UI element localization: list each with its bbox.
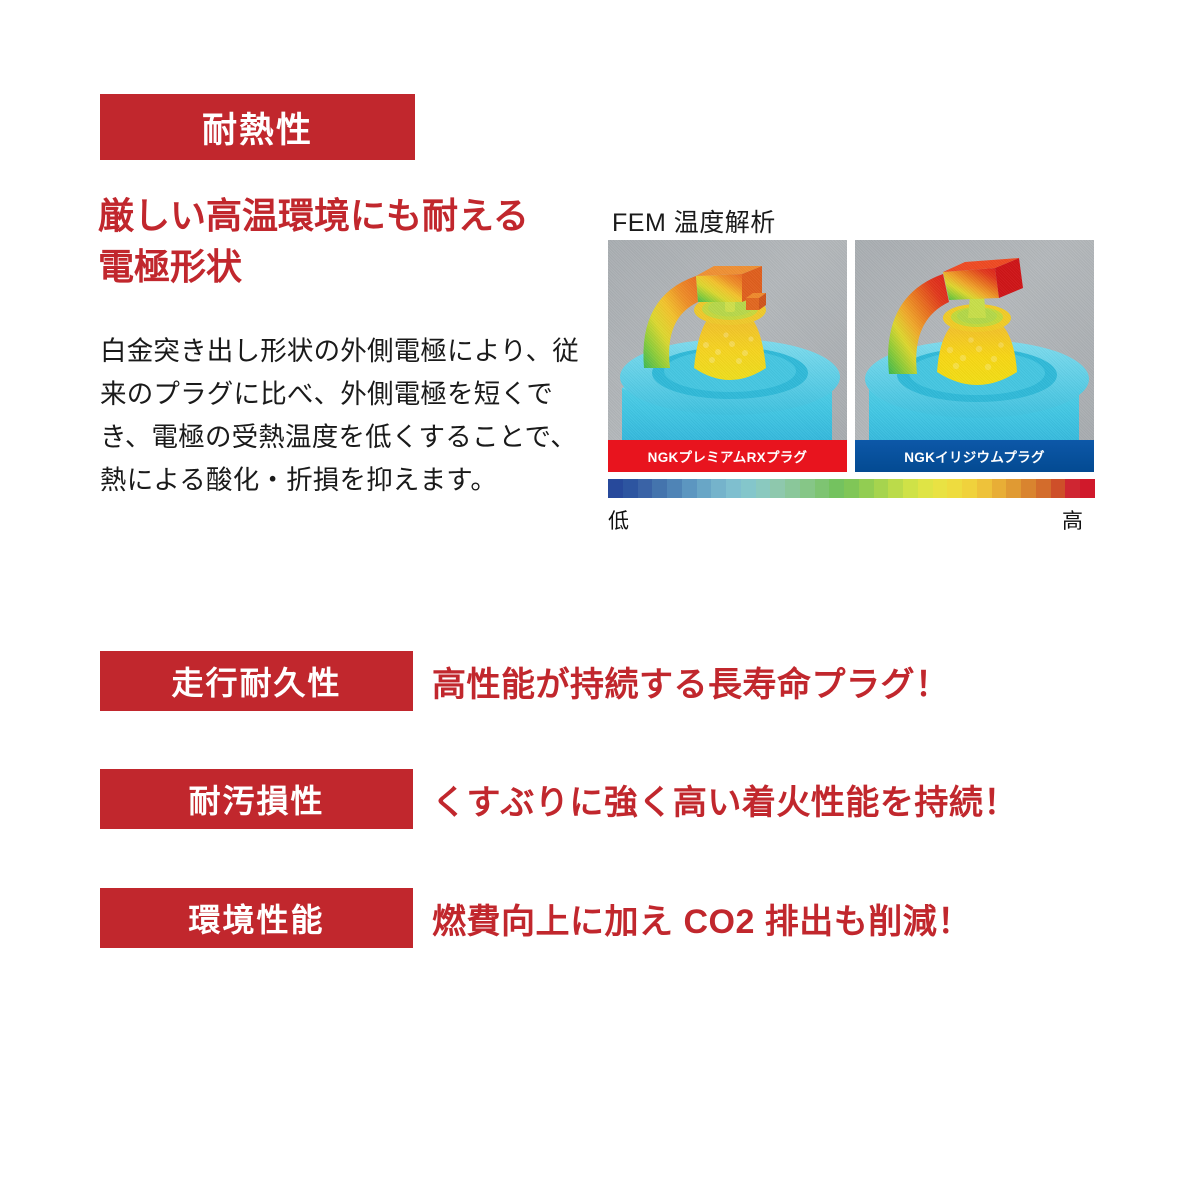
badge-heat-resistance-label: 耐熱性	[202, 102, 313, 153]
feature-row-durability: 走行耐久性 高性能が持続する長寿命プラグ！	[100, 651, 1060, 711]
heat-headline-line-2: 電極形状	[98, 241, 598, 292]
temperature-scale-low-label: 低	[608, 505, 629, 535]
scale-step-19	[888, 479, 903, 498]
scale-step-27	[1006, 479, 1021, 498]
scale-step-10	[756, 479, 771, 498]
scale-step-29	[1036, 479, 1051, 498]
heat-body-text: 白金突き出し形状の外側電極により、従来のプラグに比べ、外側電極を短くでき、電極の…	[100, 330, 580, 502]
scale-step-24	[962, 479, 977, 498]
scale-step-28	[1021, 479, 1036, 498]
scale-step-6	[697, 479, 712, 498]
scale-step-23	[947, 479, 962, 498]
scale-step-22	[933, 479, 948, 498]
scale-step-0	[608, 479, 623, 498]
fem-caption-iridium-label: NGKイリジウムプラグ	[904, 446, 1045, 466]
fem-thermal-render-iridium	[855, 240, 1094, 472]
scale-step-14	[815, 479, 830, 498]
badge-environment-label: 環境性能	[188, 895, 324, 941]
badge-durability-label: 走行耐久性	[171, 658, 341, 704]
fem-caption-premium-rx-label: NGKプレミアムRXプラグ	[648, 446, 808, 466]
badge-environment: 環境性能	[100, 888, 413, 948]
scale-step-21	[918, 479, 933, 498]
feature-text-durability: 高性能が持続する長寿命プラグ！	[432, 651, 950, 711]
fem-panel-premium-rx: NGKプレミアムRXプラグ	[608, 240, 847, 472]
scale-step-8	[726, 479, 741, 498]
temperature-scale-high-label: 高	[1062, 505, 1083, 535]
scale-step-13	[800, 479, 815, 498]
scale-step-26	[992, 479, 1007, 498]
fem-panel-group: NGKプレミアムRXプラグ	[608, 240, 1095, 472]
heat-headline: 厳しい高温環境にも耐える 電極形状	[98, 190, 598, 292]
scale-step-11	[770, 479, 785, 498]
scale-step-15	[829, 479, 844, 498]
scale-step-4	[667, 479, 682, 498]
scale-step-25	[977, 479, 992, 498]
scale-step-17	[859, 479, 874, 498]
badge-durability: 走行耐久性	[100, 651, 413, 711]
fem-analysis-title: FEM 温度解析	[612, 203, 776, 239]
temperature-scale-bar	[608, 479, 1095, 498]
heat-headline-line-1: 厳しい高温環境にも耐える	[98, 190, 598, 241]
scale-step-20	[903, 479, 918, 498]
fem-caption-iridium: NGKイリジウムプラグ	[855, 440, 1094, 472]
scale-step-31	[1065, 479, 1080, 498]
scale-step-18	[874, 479, 889, 498]
scale-step-12	[785, 479, 800, 498]
fem-panel-iridium: NGKイリジウムプラグ	[855, 240, 1094, 472]
badge-fouling-label: 耐汚損性	[188, 776, 324, 822]
feature-text-fouling: くすぶりに強く高い着火性能を持続！	[432, 769, 1018, 829]
scale-step-16	[844, 479, 859, 498]
scale-step-5	[682, 479, 697, 498]
fem-thermal-render-premium-rx	[608, 240, 847, 472]
scale-step-9	[741, 479, 756, 498]
scale-step-2	[638, 479, 653, 498]
badge-fouling: 耐汚損性	[100, 769, 413, 829]
feature-row-environment: 環境性能 燃費向上に加え CO2 排出も削減！	[100, 888, 1060, 948]
scale-step-7	[711, 479, 726, 498]
scale-step-3	[652, 479, 667, 498]
badge-heat-resistance: 耐熱性	[100, 94, 415, 160]
scale-step-1	[623, 479, 638, 498]
fem-caption-premium-rx: NGKプレミアムRXプラグ	[608, 440, 847, 472]
feature-row-fouling: 耐汚損性 くすぶりに強く高い着火性能を持続！	[100, 769, 1060, 829]
scale-step-30	[1051, 479, 1066, 498]
scale-step-32	[1080, 479, 1095, 498]
feature-text-environment: 燃費向上に加え CO2 排出も削減！	[432, 888, 972, 948]
